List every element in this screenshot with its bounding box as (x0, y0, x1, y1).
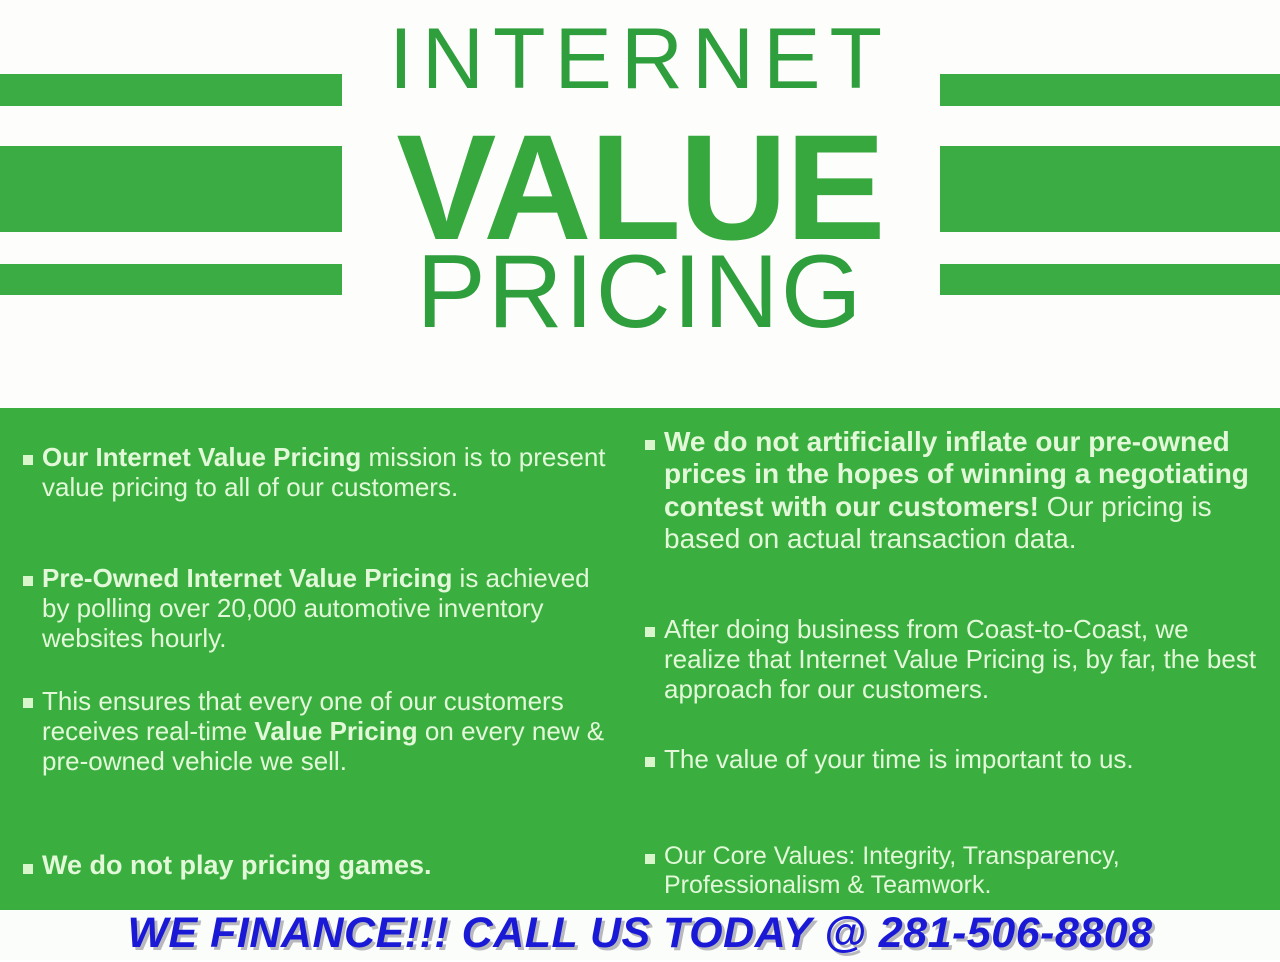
internet-value-pricing-flyer: INTERNET VALUE PRICING Our Internet Valu… (0, 0, 1280, 960)
list-item-pre-owned-polling: Pre-Owned Internet Value Pricing is achi… (18, 563, 618, 653)
list-item-text: Our Internet Value Pricing mission is to… (42, 442, 618, 502)
list-item-value-of-your-time: The value of your time is important to u… (640, 744, 1260, 774)
logo-word-pricing: PRICING (0, 240, 1280, 344)
list-item-mission: Our Internet Value Pricing mission is to… (18, 442, 618, 502)
list-item-bold-mid: Value Pricing (254, 716, 417, 746)
square-bullet-icon (645, 440, 655, 450)
list-item-coast-to-coast: After doing business from Coast-to-Coast… (640, 614, 1260, 704)
square-bullet-icon (645, 854, 655, 864)
list-item-text: Our Core Values: Integrity, Transparency… (664, 842, 1260, 900)
list-item-bold-lead: Our Internet Value Pricing (42, 442, 361, 472)
list-item-core-values: Our Core Values: Integrity, Transparency… (640, 842, 1260, 900)
logo-header: INTERNET VALUE PRICING (0, 0, 1280, 408)
list-item-text: The value of your time is important to u… (664, 744, 1260, 774)
list-item-no-pricing-games: We do not play pricing games. (18, 850, 618, 881)
value-pricing-statement-panel: Our Internet Value Pricing mission is to… (0, 408, 1280, 910)
list-item-text: Pre-Owned Internet Value Pricing is achi… (42, 563, 618, 653)
list-item-text: We do not artificially inflate our pre-o… (664, 426, 1260, 556)
list-item-text: We do not play pricing games. (42, 850, 618, 881)
list-item-text: After doing business from Coast-to-Coast… (664, 614, 1260, 704)
square-bullet-icon (23, 455, 33, 465)
finance-call-banner-text: WE FINANCE!!! CALL US TODAY @ 281-506-88… (0, 904, 1280, 962)
square-bullet-icon (23, 864, 33, 874)
list-item-real-time-value-pricing: This ensures that every one of our custo… (18, 686, 618, 776)
square-bullet-icon (23, 576, 33, 586)
list-item-no-artificial-inflation: We do not artificially inflate our pre-o… (640, 426, 1260, 556)
square-bullet-icon (645, 757, 655, 767)
list-item-text: This ensures that every one of our custo… (42, 686, 618, 776)
finance-call-banner: WE FINANCE!!! CALL US TODAY @ 281-506-88… (0, 910, 1280, 960)
logo-word-internet: INTERNET (0, 16, 1280, 102)
square-bullet-icon (645, 627, 655, 637)
list-item-bold-lead: Pre-Owned Internet Value Pricing (42, 563, 452, 593)
square-bullet-icon (23, 698, 33, 708)
